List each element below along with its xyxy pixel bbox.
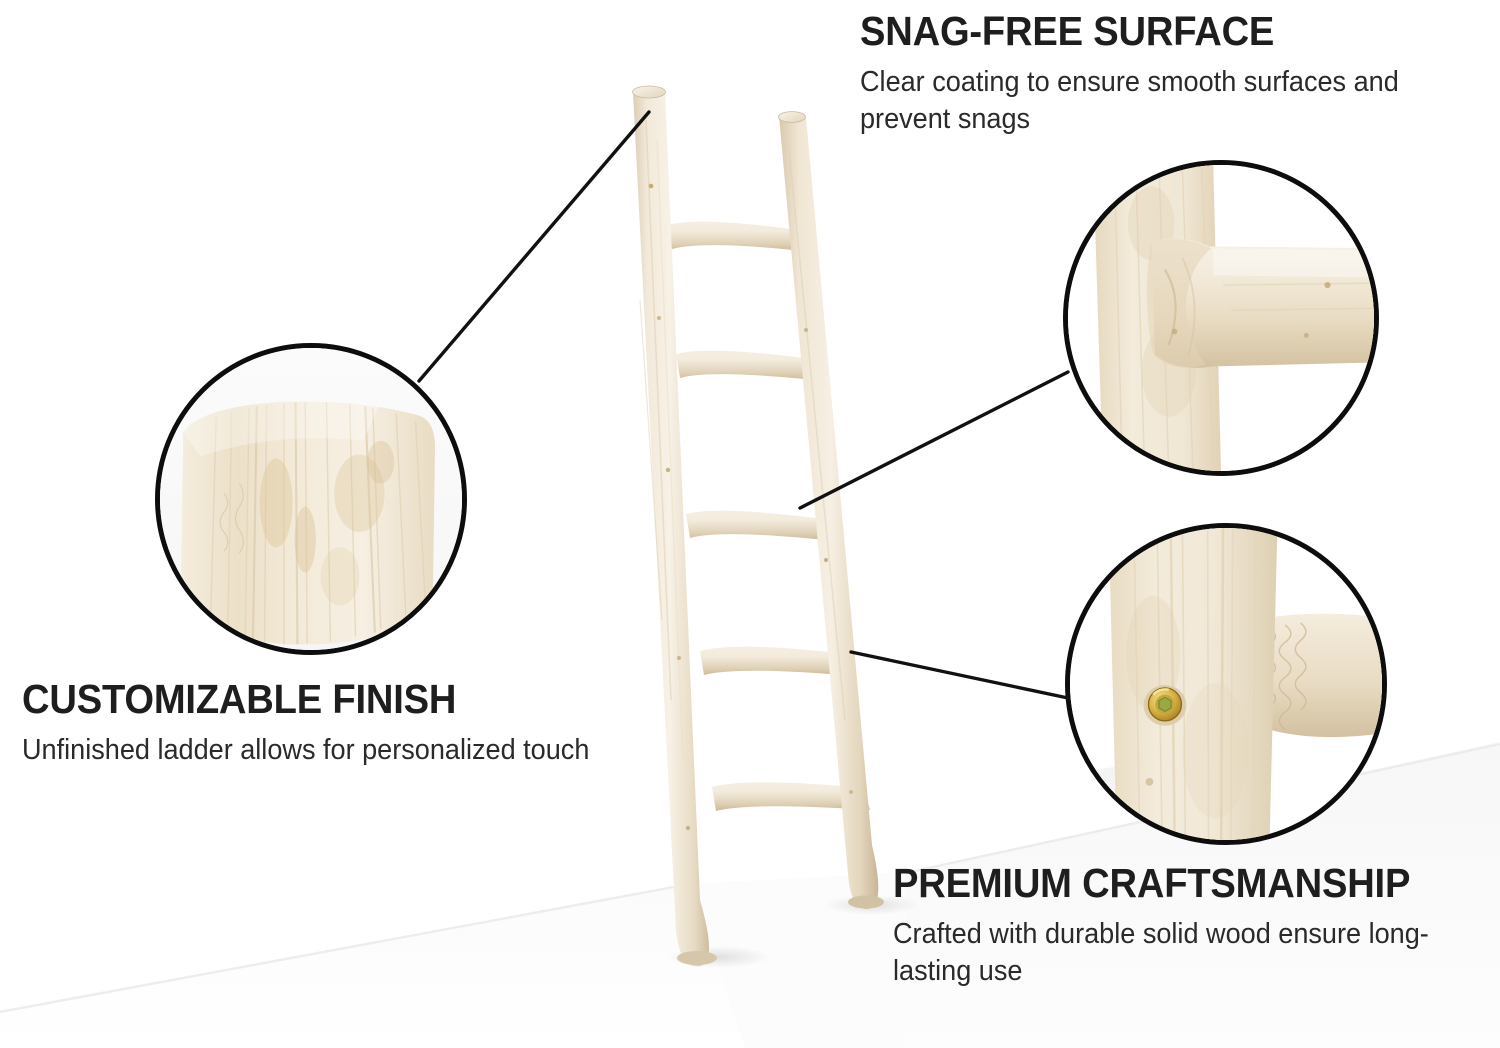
infographic-canvas: SNAG-FREE SURFACE Clear coating to ensur…	[0, 0, 1500, 1048]
feature-heading: PREMIUM CRAFTSMANSHIP	[893, 862, 1451, 905]
ladder-rungs	[668, 222, 870, 811]
feature-block-snag-free-surface: SNAG-FREE SURFACE Clear coating to ensur…	[860, 10, 1500, 138]
ladder-left-rail	[633, 86, 718, 966]
feature-description: Crafted with durable solid wood ensure l…	[893, 916, 1463, 990]
leader-line-customizable-finish	[419, 112, 649, 381]
ladder-right-rail	[779, 112, 885, 910]
callout-snag-free-surface	[1063, 160, 1379, 476]
rung-to-rail-joint-closeup	[1068, 165, 1374, 471]
feature-block-customizable-finish: CUSTOMIZABLE FINISH Unfinished ladder al…	[22, 678, 672, 769]
rail-top-end-grain-closeup	[160, 348, 462, 650]
leader-line-craftsmanship	[851, 652, 1068, 698]
feature-heading: CUSTOMIZABLE FINISH	[22, 678, 627, 721]
feature-description: Clear coating to ensure smooth surfaces …	[860, 64, 1468, 138]
feature-block-premium-craftsmanship: PREMIUM CRAFTSMANSHIP Crafted with durab…	[893, 862, 1493, 990]
feature-description: Unfinished ladder allows for personalize…	[22, 732, 640, 769]
leader-line-snag-free	[800, 372, 1068, 508]
brass-screw-fastener-closeup	[1070, 528, 1382, 840]
callout-premium-craftsmanship	[1065, 523, 1387, 845]
callout-customizable-finish	[155, 343, 467, 655]
feature-heading: SNAG-FREE SURFACE	[860, 10, 1455, 53]
